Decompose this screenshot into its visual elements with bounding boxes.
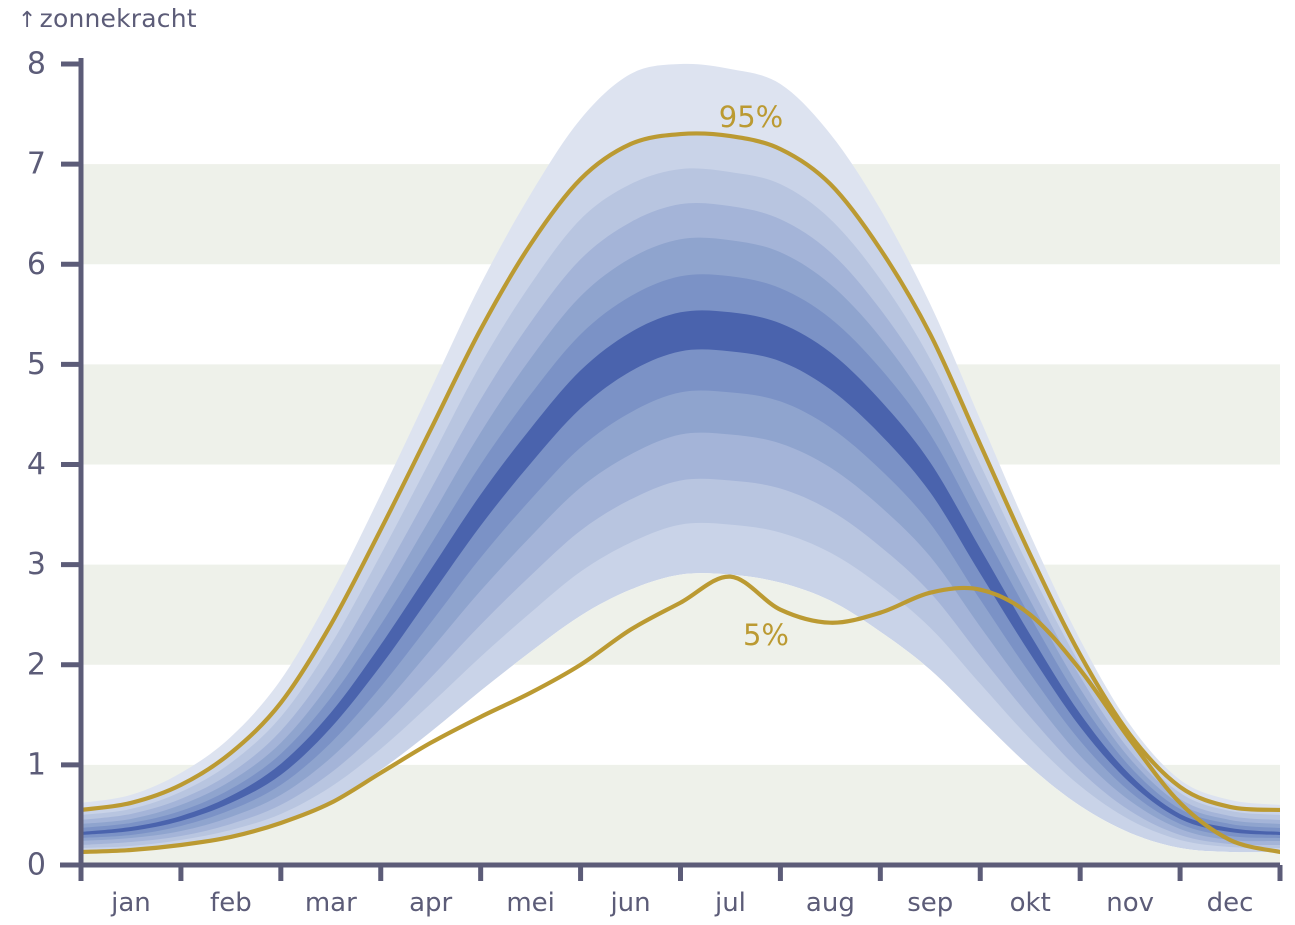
x-tick-label-nov: nov [1106, 888, 1154, 918]
x-tick-label-okt: okt [1010, 888, 1051, 918]
y-tick-label: 0 [27, 848, 46, 883]
y-tick-labels: 012345678 [27, 47, 46, 883]
x-tick-label-jun: jun [609, 888, 650, 918]
y-tick-label: 4 [27, 447, 46, 482]
x-tick-label-mei: mei [506, 888, 555, 918]
x-tick-label-jul: jul [714, 888, 746, 918]
y-tick-label: 3 [27, 547, 46, 582]
y-tick-label: 1 [27, 747, 46, 782]
fan-chart: 012345678 janfebmaraprmeijunjulaugsepokt… [0, 0, 1295, 925]
x-tick-label-aug: aug [806, 888, 855, 918]
x-tick-labels: janfebmaraprmeijunjulaugsepoktnovdec [110, 888, 1253, 918]
y-tick-label: 2 [27, 647, 46, 682]
x-tick-label-mar: mar [305, 888, 357, 918]
x-tick-label-jan: jan [110, 888, 151, 918]
x-tick-label-feb: feb [210, 888, 252, 918]
chart-root: ↑zonnekracht 012345678 janfebmaraprmeiju… [0, 0, 1295, 925]
x-tick-label-dec: dec [1207, 888, 1254, 918]
y-tick-label: 6 [27, 247, 46, 282]
x-tick-label-sep: sep [907, 888, 953, 918]
annotation-5pct: 5% [743, 618, 789, 652]
y-tick-label: 5 [27, 347, 46, 382]
y-tick-label: 7 [27, 147, 46, 182]
x-tick-label-apr: apr [409, 888, 452, 918]
y-tick-label: 8 [27, 47, 46, 82]
annotation-95pct: 95% [719, 100, 783, 134]
